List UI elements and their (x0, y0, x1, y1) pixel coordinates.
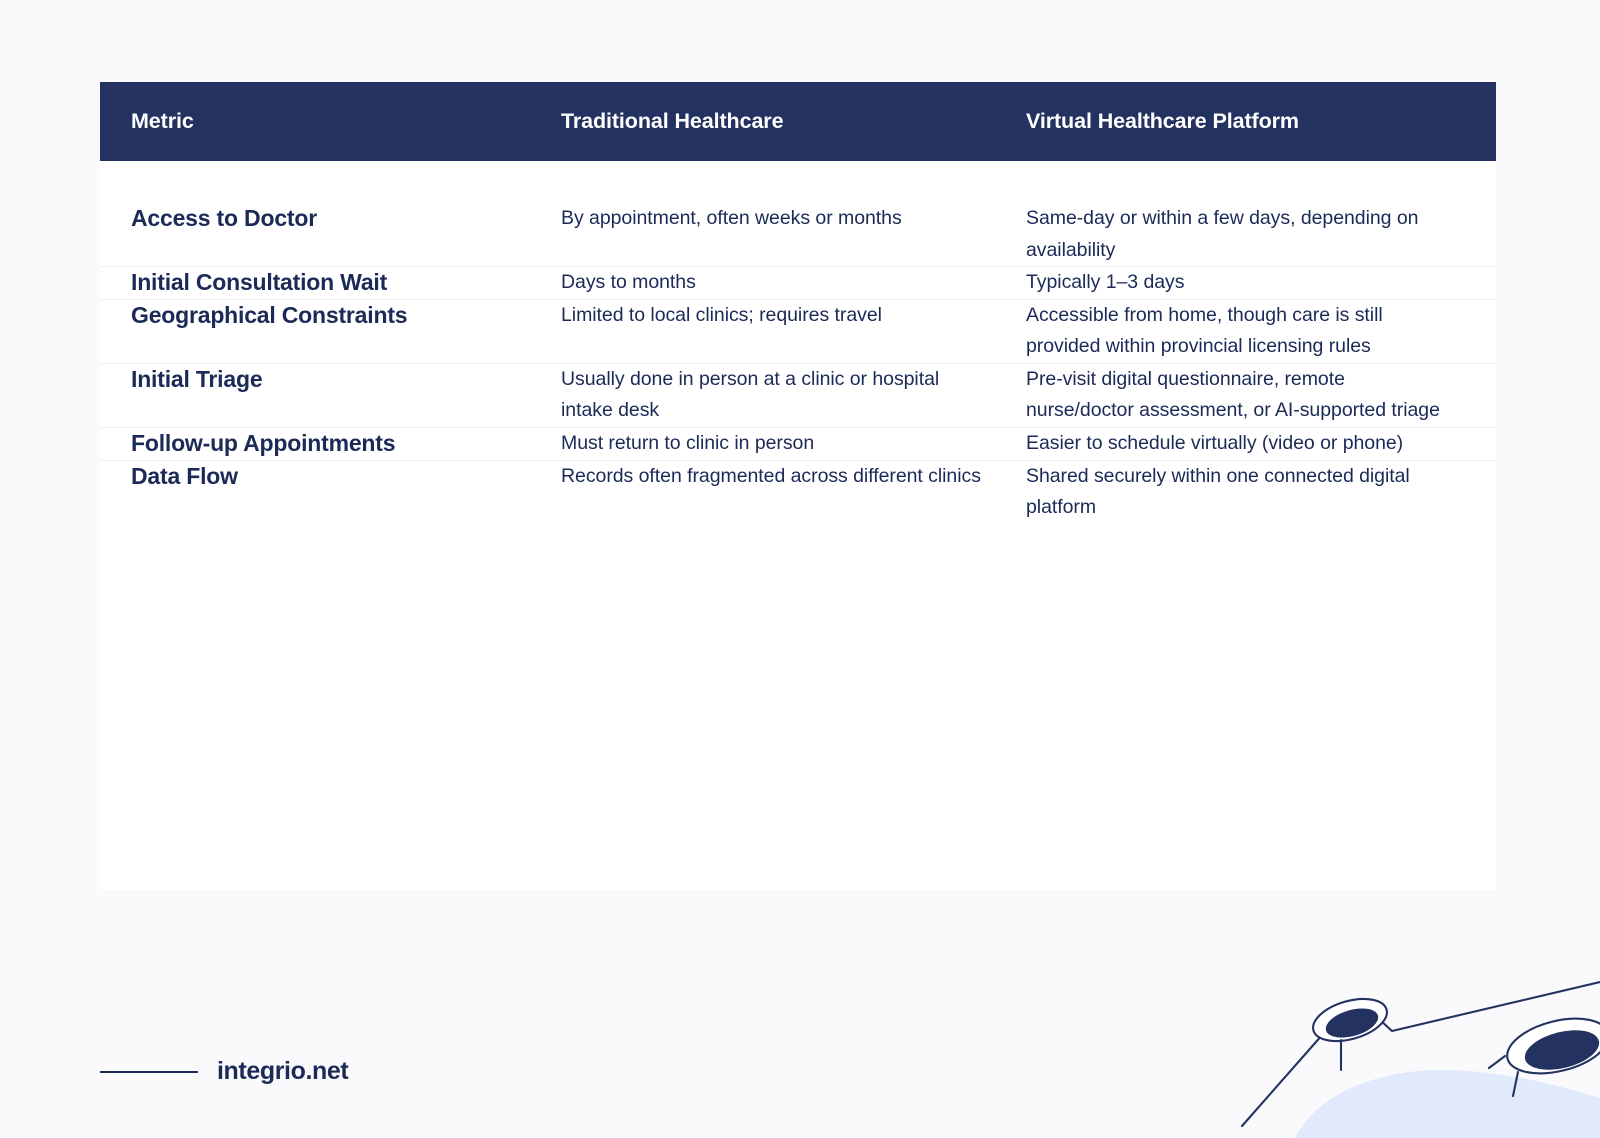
table-cell-virtual: Accessible from home, though care is sti… (1026, 299, 1496, 363)
table-cell-metric: Access to Doctor (100, 161, 561, 267)
traditional-value: Records often fragmented across differen… (561, 461, 981, 493)
traditional-value: Limited to local clinics; requires trave… (561, 300, 981, 332)
column-header-traditional-label: Traditional Healthcare (561, 109, 1026, 134)
metric-label: Data Flow (100, 461, 561, 492)
table-header: Metric Traditional Healthcare Virtual He… (100, 82, 1496, 161)
table-cell-metric: Follow-up Appointments (100, 428, 561, 461)
table-row: Geographical Constraints Limited to loca… (100, 299, 1496, 363)
column-header-virtual: Virtual Healthcare Platform (1026, 82, 1496, 161)
table-body: Access to Doctor By appointment, often w… (100, 161, 1496, 524)
table-cell-metric: Initial Triage (100, 363, 561, 427)
traditional-value: Usually done in person at a clinic or ho… (561, 364, 981, 427)
pin-right (1489, 1009, 1600, 1096)
brand-rule-divider (100, 1071, 198, 1073)
virtual-value: Same-day or within a few days, depending… (1026, 203, 1446, 266)
column-header-traditional: Traditional Healthcare (561, 82, 1026, 161)
virtual-value: Pre-visit digital questionnaire, remote … (1026, 364, 1446, 427)
table-cell-metric: Data Flow (100, 460, 561, 524)
table-cell-traditional: Days to months (561, 267, 1026, 300)
table-cell-traditional: Records often fragmented across differen… (561, 460, 1026, 524)
table-row: Follow-up Appointments Must return to cl… (100, 428, 1496, 461)
comparison-table-card: Metric Traditional Healthcare Virtual He… (100, 82, 1496, 890)
virtual-value: Accessible from home, though care is sti… (1026, 300, 1446, 363)
metric-label: Initial Triage (100, 364, 561, 395)
virtual-value: Shared securely within one connected dig… (1026, 461, 1446, 524)
table-cell-virtual: Same-day or within a few days, depending… (1026, 161, 1496, 267)
table-row: Initial Consultation Wait Days to months… (100, 267, 1496, 300)
table-row: Initial Triage Usually done in person at… (100, 363, 1496, 427)
traditional-value: By appointment, often weeks or months (561, 203, 981, 235)
table-header-row: Metric Traditional Healthcare Virtual He… (100, 82, 1496, 161)
traditional-value: Days to months (561, 267, 981, 299)
table-cell-traditional: Usually done in person at a clinic or ho… (561, 363, 1026, 427)
blob-shape (1295, 1070, 1600, 1138)
pin-left (1308, 991, 1392, 1070)
table-cell-virtual: Typically 1–3 days (1026, 267, 1496, 300)
comparison-table: Metric Traditional Healthcare Virtual He… (100, 82, 1496, 524)
table-row: Data Flow Records often fragmented acros… (100, 460, 1496, 524)
table-cell-traditional: By appointment, often weeks or months (561, 161, 1026, 267)
metric-label: Follow-up Appointments (100, 428, 561, 459)
virtual-value: Easier to schedule virtually (video or p… (1026, 428, 1446, 460)
ridge-line (1242, 982, 1600, 1126)
column-header-metric-label: Metric (100, 109, 561, 134)
traditional-value: Must return to clinic in person (561, 428, 981, 460)
brand-name: integrio.net (217, 1057, 348, 1086)
metric-label: Geographical Constraints (100, 300, 561, 331)
footer-brand-block: integrio.net (100, 1057, 348, 1086)
table-cell-traditional: Must return to clinic in person (561, 428, 1026, 461)
metric-label: Access to Doctor (100, 203, 561, 234)
metric-label: Initial Consultation Wait (100, 267, 561, 298)
table-cell-virtual: Pre-visit digital questionnaire, remote … (1026, 363, 1496, 427)
virtual-value: Typically 1–3 days (1026, 267, 1446, 299)
decorative-corner-illustration (1200, 948, 1600, 1138)
table-cell-virtual: Shared securely within one connected dig… (1026, 460, 1496, 524)
table-row: Access to Doctor By appointment, often w… (100, 161, 1496, 267)
table-cell-traditional: Limited to local clinics; requires trave… (561, 299, 1026, 363)
table-cell-metric: Initial Consultation Wait (100, 267, 561, 300)
table-cell-metric: Geographical Constraints (100, 299, 561, 363)
column-header-virtual-label: Virtual Healthcare Platform (1026, 109, 1496, 134)
table-cell-virtual: Easier to schedule virtually (video or p… (1026, 428, 1496, 461)
column-header-metric: Metric (100, 82, 561, 161)
